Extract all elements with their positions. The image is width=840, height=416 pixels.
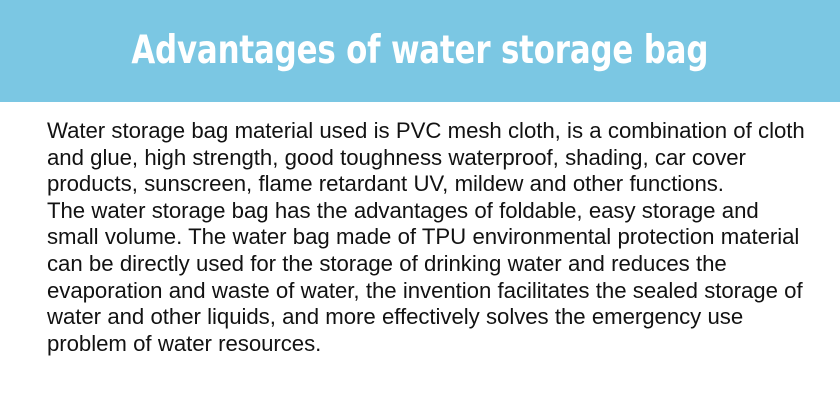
slide-page: Advantages of water storage bag Water st…: [0, 0, 840, 416]
paragraph-1: Water storage bag material used is PVC m…: [47, 118, 807, 198]
page-title: Advantages of water storage bag: [132, 31, 709, 70]
header-banner: Advantages of water storage bag: [0, 0, 840, 102]
body-content: Water storage bag material used is PVC m…: [47, 118, 807, 357]
paragraph-2: The water storage bag has the advantages…: [47, 198, 807, 358]
